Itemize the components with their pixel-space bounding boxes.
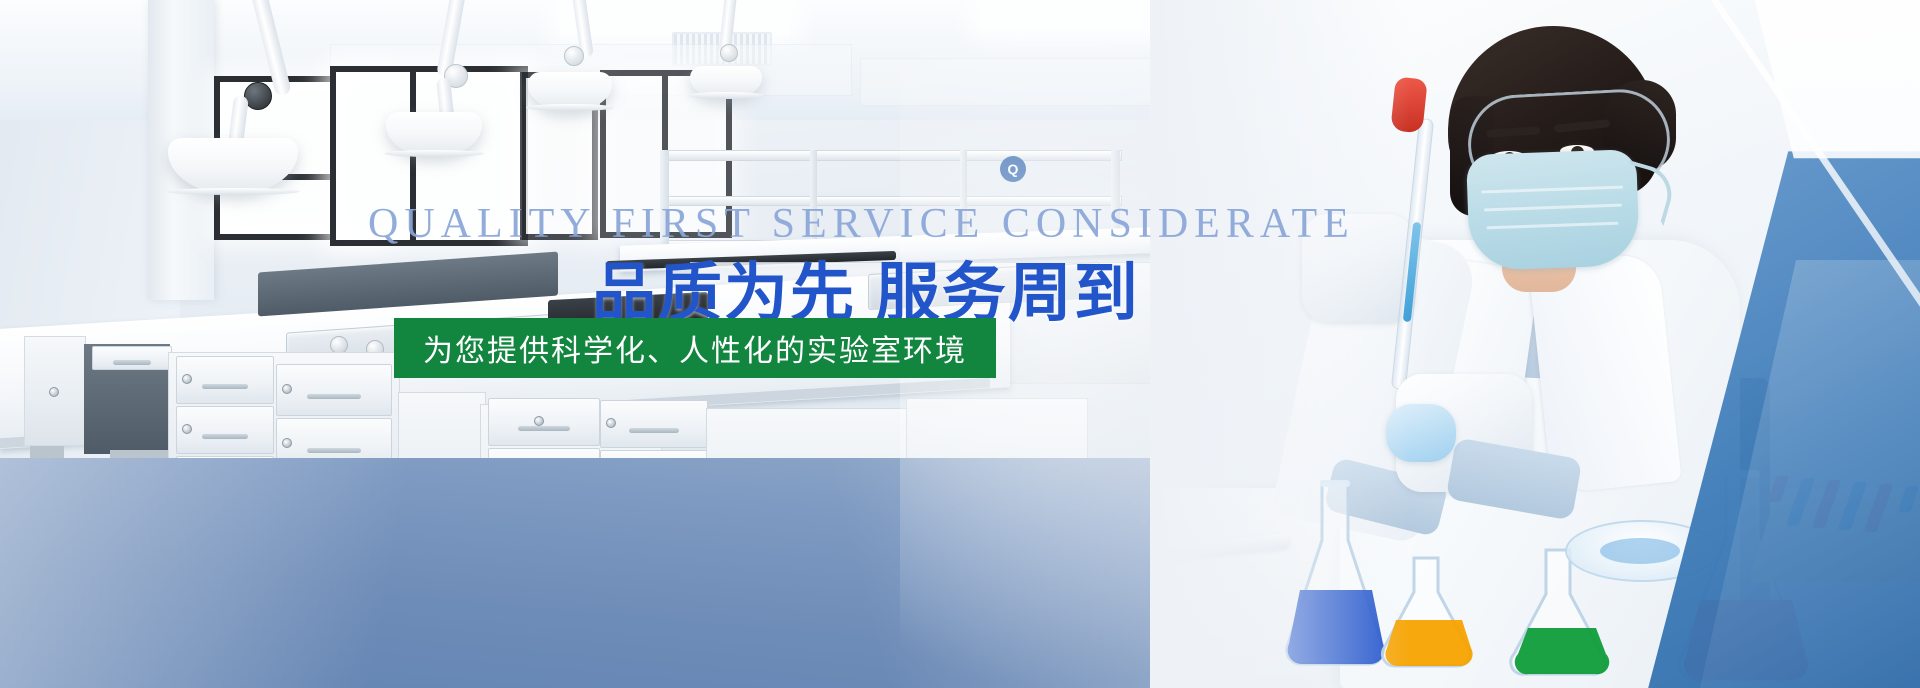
tagline-english: QUALITY FIRST SERVICE CONSIDERATE (368, 200, 1355, 248)
subtitle-chinese: 为您提供科学化、人性化的实验室环境 (423, 326, 967, 370)
subtitle-green-bar: 为您提供科学化、人性化的实验室环境 (394, 318, 996, 378)
text-overlay: QUALITY FIRST SERVICE CONSIDERATE 品质为先 服… (0, 0, 1920, 688)
hero-banner: Q (0, 0, 1920, 688)
